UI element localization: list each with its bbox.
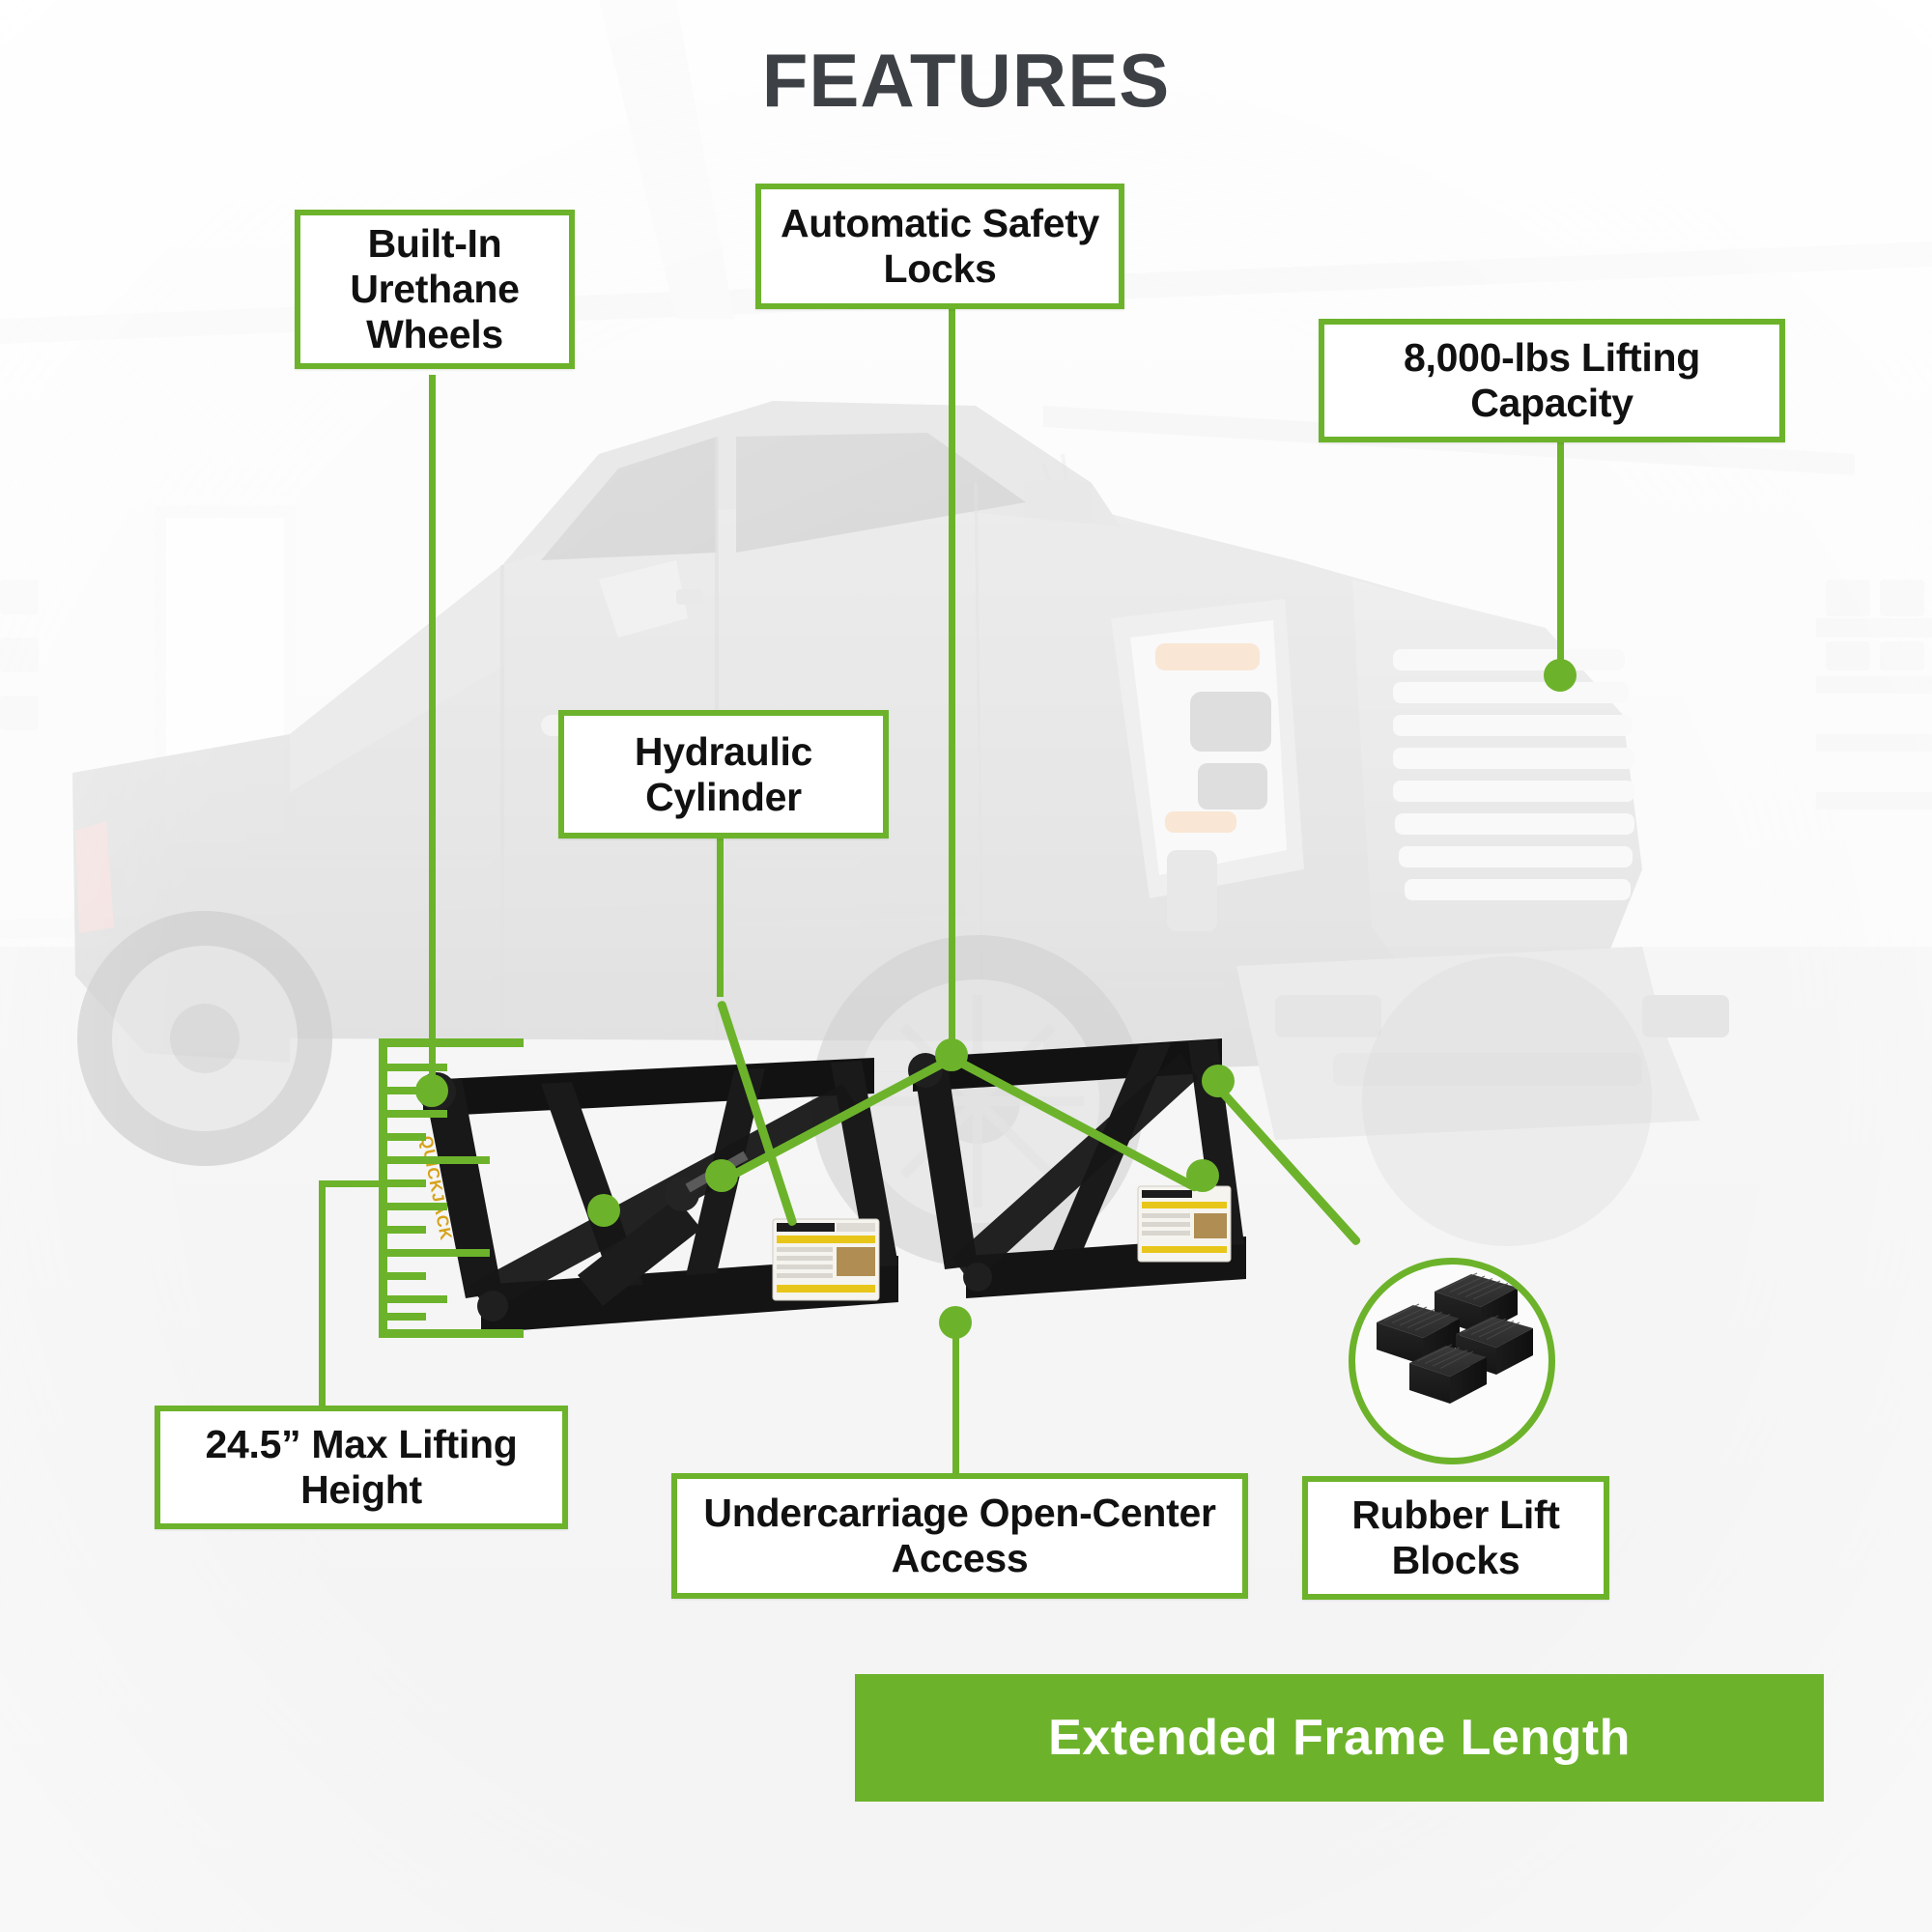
callout-text-lifting-capacity: 8,000-lbs Lifting Capacity — [1324, 335, 1779, 425]
callout-text-undercarriage-open-center-access: Undercarriage Open-Center Access — [677, 1491, 1242, 1580]
callout-text-rubber-lift-blocks: Rubber Lift Blocks — [1308, 1492, 1604, 1582]
connector-built-in-urethane-wheels — [429, 375, 436, 1092]
connector-dot-safety-lock-right — [1186, 1159, 1219, 1192]
connector-dot-lifting-capacity — [1544, 659, 1577, 692]
connector-lifting-capacity — [1557, 437, 1564, 672]
connector-dot-hydraulic-cylinder — [587, 1194, 620, 1227]
feature-diagram-canvas: QUICKJACK — [0, 0, 1932, 1932]
connector-dot-safety-lock-left — [705, 1159, 738, 1192]
callout-text-hydraulic-cylinder: Hydraulic Cylinder — [564, 729, 883, 819]
callout-hydraulic-cylinder[interactable]: Hydraulic Cylinder — [558, 710, 889, 838]
connector-height-bracket-vertical — [319, 1180, 326, 1412]
extended-frame-length-banner: Extended Frame Length — [855, 1674, 1824, 1802]
callout-text-max-lifting-height: 24.5” Max Lifting Height — [160, 1422, 562, 1512]
callout-text-built-in-urethane-wheels: Built-In Urethane Wheels — [300, 221, 569, 356]
callout-built-in-urethane-wheels[interactable]: Built-In Urethane Wheels — [295, 210, 575, 369]
page-title: FEATURES — [0, 37, 1932, 125]
connector-automatic-safety-locks — [949, 309, 955, 1053]
callout-undercarriage-open-center-access[interactable]: Undercarriage Open-Center Access — [671, 1473, 1248, 1599]
rubber-lift-blocks-inset — [1349, 1258, 1555, 1464]
lifting-height-ruler — [367, 1038, 546, 1338]
connector-hydraulic-cylinder — [717, 833, 724, 997]
connector-undercarriage-access — [952, 1321, 959, 1481]
banner-text: Extended Frame Length — [1048, 1709, 1631, 1767]
callout-rubber-lift-blocks[interactable]: Rubber Lift Blocks — [1302, 1476, 1609, 1600]
connector-dot-rubber-lift-blocks — [1202, 1065, 1235, 1097]
callout-text-automatic-safety-locks: Automatic Safety Locks — [761, 201, 1119, 291]
connector-dot-undercarriage-access — [939, 1306, 972, 1339]
callout-lifting-capacity[interactable]: 8,000-lbs Lifting Capacity — [1319, 319, 1785, 442]
callout-max-lifting-height[interactable]: 24.5” Max Lifting Height — [155, 1406, 568, 1529]
callout-automatic-safety-locks[interactable]: Automatic Safety Locks — [755, 184, 1124, 309]
